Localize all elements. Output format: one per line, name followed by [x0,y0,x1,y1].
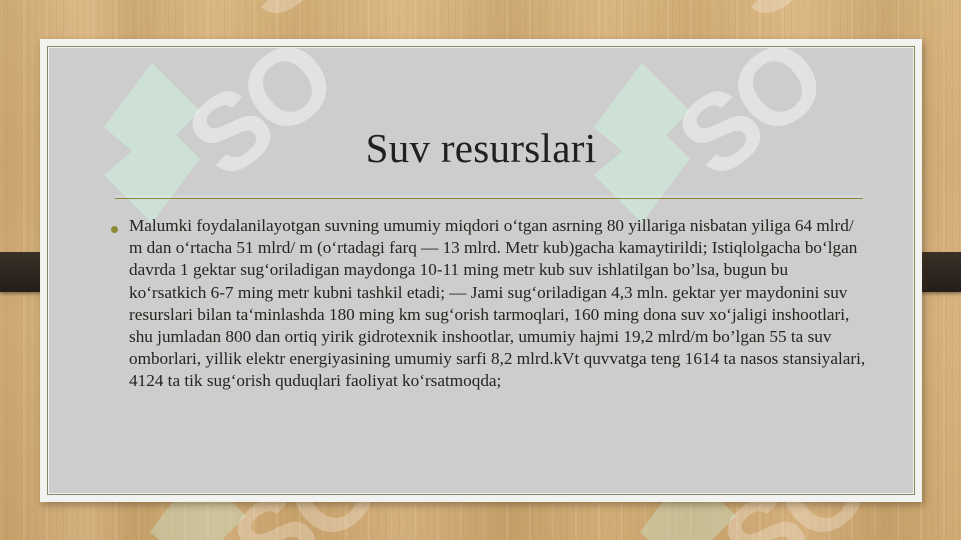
slide-frame: SO SO SO SO Suv resurslari Malumki foyda… [40,39,922,502]
slide-canvas: SO SO SO SO Suv resurslari Malumki foyda… [49,48,913,493]
bullet-item: Malumki foydalanilayotgan suvning umumiy… [111,215,867,393]
presentation-slide-view: SO SO SO SO SO [0,0,961,540]
bullet-dot-icon [111,226,118,233]
slide-body: Malumki foydalanilayotgan suvning umumiy… [111,215,867,393]
bullet-text: Malumki foydalanilayotgan suvning umumiy… [129,215,867,393]
title-divider [115,198,863,199]
slide-content: Suv resurslari Malumki foydalanilayotgan… [49,48,913,493]
slide-title: Suv resurslari [49,126,913,171]
